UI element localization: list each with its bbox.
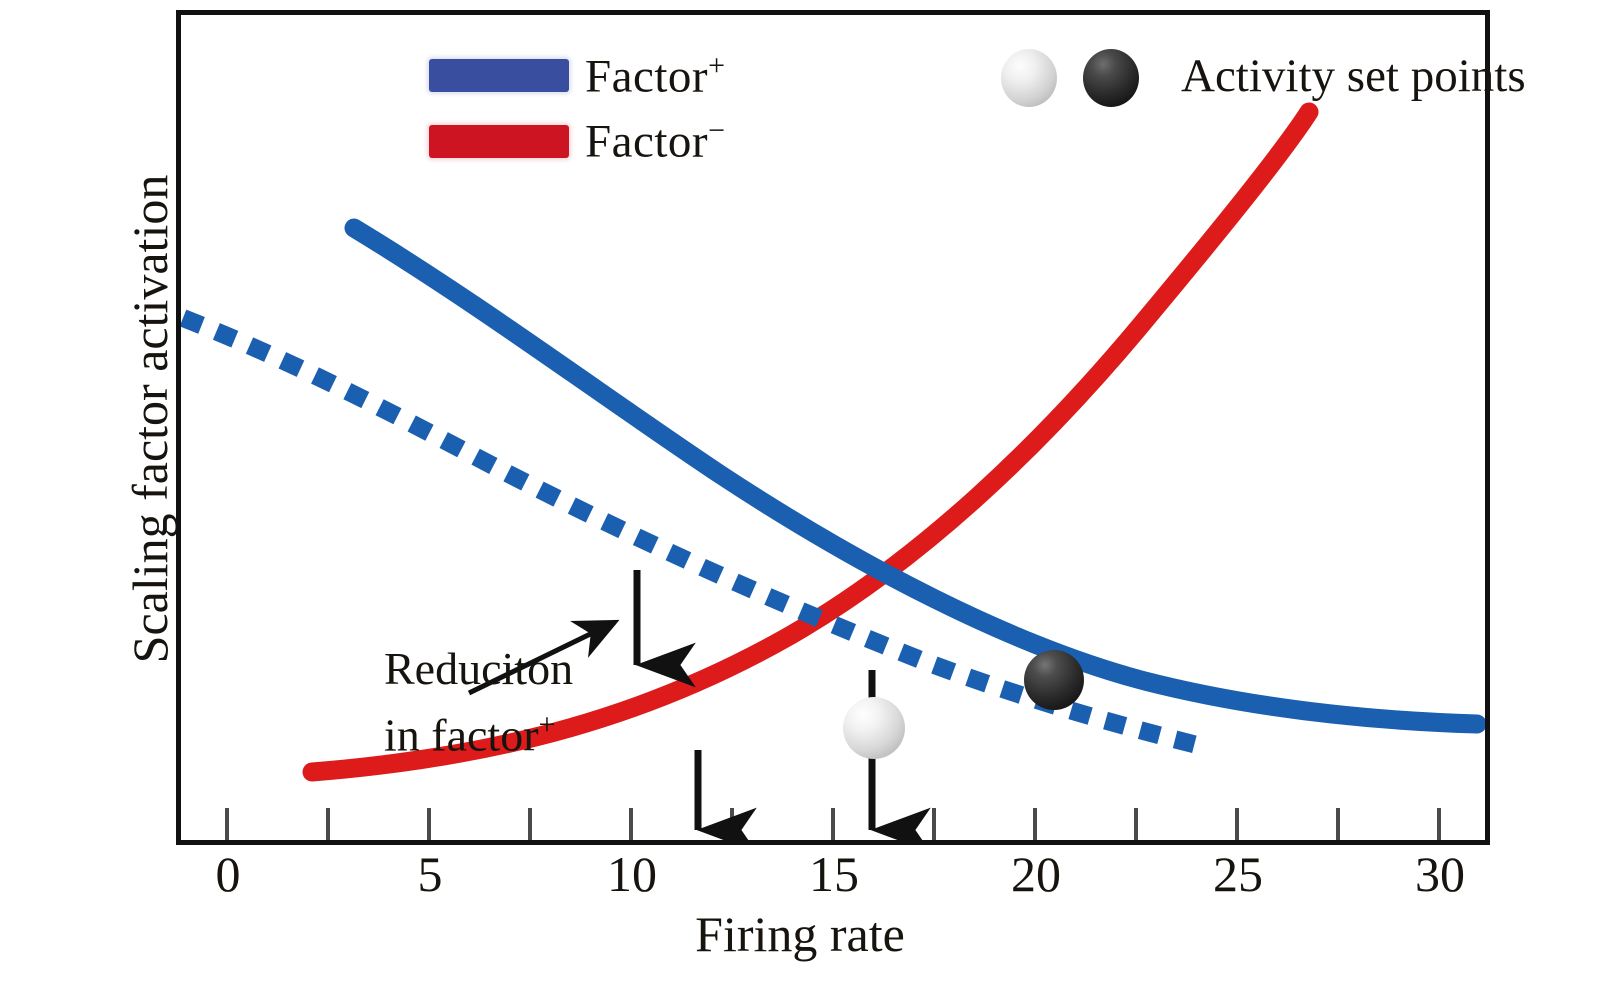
x-tick-label-20: 20 xyxy=(976,845,1096,903)
x-axis-ticks xyxy=(227,808,1439,840)
y-axis-label: Scaling factor activation xyxy=(121,109,179,729)
legend-label-factor-minus-sup: − xyxy=(708,114,725,147)
annotation-line-2-text: in factor xyxy=(384,709,539,760)
legend-marker-set-point-light xyxy=(1001,49,1057,107)
x-tick-label-25: 25 xyxy=(1178,845,1298,903)
annotation-reduction-in-factor-plus: Reduciton in factor+ xyxy=(384,641,573,763)
x-tick-label-30: 30 xyxy=(1380,845,1500,903)
annotation-line-1: Reduciton xyxy=(384,641,573,697)
plot-area xyxy=(181,15,1485,840)
legend-swatch-factor-plus xyxy=(429,59,569,92)
x-axis-label: Firing rate xyxy=(0,905,1600,963)
legend-marker-set-point-dark xyxy=(1083,49,1139,107)
x-tick-label-0: 0 xyxy=(168,845,288,903)
plot-frame: Factor+ Factor− Activity set points Redu… xyxy=(176,10,1490,845)
chart-figure: Factor+ Factor− Activity set points Redu… xyxy=(0,0,1600,1000)
plot-canvas xyxy=(181,15,1485,840)
annotation-line-2-sup: + xyxy=(539,708,556,741)
activity-set-point-dark xyxy=(1024,650,1084,710)
legend-label-factor-minus: Factor− xyxy=(585,114,726,169)
legend-label-factor-minus-text: Factor xyxy=(585,116,708,168)
legend-label-activity-set-points: Activity set points xyxy=(1181,49,1526,103)
legend-swatch-factor-minus xyxy=(429,125,569,158)
x-tick-label-15: 15 xyxy=(774,845,894,903)
legend-label-factor-plus-sup: + xyxy=(708,49,725,82)
legend-label-factor-plus: Factor+ xyxy=(585,49,726,104)
legend-label-factor-plus-text: Factor xyxy=(585,51,708,103)
x-tick-label-5: 5 xyxy=(370,845,490,903)
activity-set-point-light xyxy=(843,697,905,759)
annotation-line-2: in factor+ xyxy=(384,697,573,763)
x-tick-label-10: 10 xyxy=(572,845,692,903)
